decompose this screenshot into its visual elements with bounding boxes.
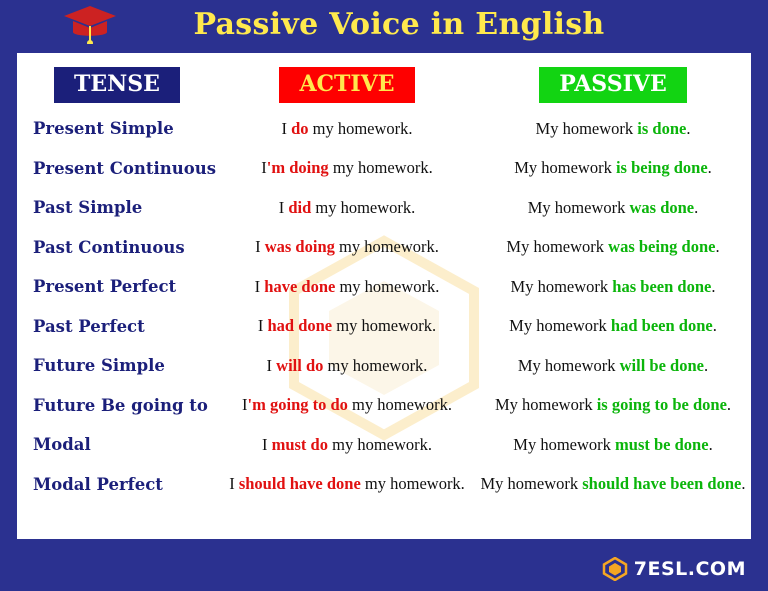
table-row: Past ContinuousI was doing my homework.M… <box>17 228 751 268</box>
passive-segment: . <box>727 395 731 414</box>
passive-segment: is done <box>637 119 686 138</box>
table-row: Future Be going toI'm going to do my hom… <box>17 386 751 426</box>
cell-passive: My homework is being done. <box>477 158 749 178</box>
passive-segment: My homework <box>518 356 620 375</box>
passive-segment: My homework <box>536 119 638 138</box>
passive-segment: . <box>704 356 708 375</box>
page-header: Passive Voice in English <box>0 0 768 48</box>
cell-active: I must do my homework. <box>217 435 477 455</box>
cell-passive: My homework is done. <box>477 119 749 139</box>
table-row: Past SimpleI did my homework.My homework… <box>17 188 751 228</box>
active-segment: my homework. <box>323 356 427 375</box>
site-logo[interactable]: 7ESL.COM <box>602 557 746 581</box>
active-segment: must do <box>272 435 328 454</box>
active-segment: was doing <box>265 237 335 256</box>
active-segment: my homework. <box>332 316 436 335</box>
cell-tense: Modal Perfect <box>17 475 217 494</box>
passive-segment: My homework <box>506 237 608 256</box>
cell-active: I do my homework. <box>217 119 477 139</box>
active-segment: should have done <box>239 474 361 493</box>
cell-active: I will do my homework. <box>217 356 477 376</box>
active-segment: do <box>291 119 308 138</box>
cell-tense: Future Simple <box>17 356 217 375</box>
badge-tense: TENSE <box>54 67 180 103</box>
table-row: Present SimpleI do my homework.My homewo… <box>17 109 751 149</box>
passive-segment: was being done <box>608 237 715 256</box>
cell-tense: Past Simple <box>17 198 217 217</box>
table-row: Present ContinuousI'm doing my homework.… <box>17 149 751 189</box>
passive-segment: My homework <box>509 316 611 335</box>
cell-active: I'm going to do my homework. <box>217 395 477 415</box>
active-segment: I <box>279 198 289 217</box>
passive-segment: . <box>711 277 715 296</box>
site-logo-text: 7ESL.COM <box>634 558 746 580</box>
badge-passive: PASSIVE <box>539 67 686 103</box>
cell-tense: Future Be going to <box>17 396 217 415</box>
passive-segment: . <box>686 119 690 138</box>
cell-passive: My homework had been done. <box>477 316 749 336</box>
active-segment: I <box>255 277 265 296</box>
table-row: ModalI must do my homework.My homework m… <box>17 425 751 465</box>
active-segment: 'm going to do <box>248 395 348 414</box>
table-row: Modal PerfectI should have done my homew… <box>17 465 751 505</box>
passive-segment: had been done <box>611 316 713 335</box>
passive-segment: . <box>708 158 712 177</box>
cell-passive: My homework must be done. <box>477 435 749 455</box>
active-segment: I <box>255 237 265 256</box>
cell-passive: My homework is going to be done. <box>477 395 749 415</box>
passive-segment: is going to be done <box>597 395 727 414</box>
active-segment: my homework. <box>309 119 413 138</box>
active-segment: my homework. <box>328 435 432 454</box>
active-segment: my homework. <box>311 198 415 217</box>
active-segment: my homework. <box>335 237 439 256</box>
page-footer: 7ESL.COM <box>0 546 768 591</box>
cell-active: I have done my homework. <box>217 277 477 297</box>
passive-segment: . <box>715 237 719 256</box>
cell-active: I should have done my homework. <box>217 474 477 494</box>
active-segment: I <box>262 435 272 454</box>
cell-tense: Modal <box>17 435 217 454</box>
graduation-cap-icon <box>60 2 120 44</box>
cell-passive: My homework will be done. <box>477 356 749 376</box>
passive-segment: is being done <box>616 158 708 177</box>
passive-segment: should have been done <box>582 474 741 493</box>
passive-segment: has been done <box>612 277 711 296</box>
table-row: Future SimpleI will do my homework.My ho… <box>17 346 751 386</box>
active-segment: have done <box>264 277 335 296</box>
badge-active: ACTIVE <box>279 67 414 103</box>
passive-segment: . <box>741 474 745 493</box>
cell-tense: Present Continuous <box>17 159 217 178</box>
active-segment: I <box>229 474 239 493</box>
passive-segment: . <box>694 198 698 217</box>
cell-active: I did my homework. <box>217 198 477 218</box>
active-segment: my homework. <box>335 277 439 296</box>
7esl-logo-icon <box>602 557 628 581</box>
passive-segment: My homework <box>481 474 583 493</box>
cell-active: I had done my homework. <box>217 316 477 336</box>
passive-segment: will be done <box>620 356 704 375</box>
cell-passive: My homework has been done. <box>477 277 749 297</box>
cell-tense: Past Continuous <box>17 238 217 257</box>
active-segment: I <box>267 356 277 375</box>
passive-segment: must be done <box>615 435 709 454</box>
active-segment: had done <box>267 316 332 335</box>
active-segment: I <box>281 119 291 138</box>
header-cell-tense: TENSE <box>17 67 217 103</box>
passive-segment: My homework <box>528 198 630 217</box>
passive-segment: . <box>713 316 717 335</box>
cell-tense: Present Perfect <box>17 277 217 296</box>
passive-segment: was done <box>629 198 694 217</box>
cell-tense: Past Perfect <box>17 317 217 336</box>
active-segment: my homework. <box>329 158 433 177</box>
active-segment: my homework. <box>348 395 452 414</box>
header-cell-active: ACTIVE <box>217 67 477 103</box>
cell-passive: My homework was being done. <box>477 237 749 257</box>
cell-active: I'm doing my homework. <box>217 158 477 178</box>
passive-segment: My homework <box>495 395 597 414</box>
table-row: Past PerfectI had done my homework.My ho… <box>17 307 751 347</box>
cell-passive: My homework should have been done. <box>477 474 749 494</box>
table-row: Present PerfectI have done my homework.M… <box>17 267 751 307</box>
cell-passive: My homework was done. <box>477 198 749 218</box>
cell-active: I was doing my homework. <box>217 237 477 257</box>
passive-segment: . <box>709 435 713 454</box>
table-card: TENSE ACTIVE PASSIVE Present SimpleI do … <box>14 50 754 542</box>
passive-segment: My homework <box>513 435 615 454</box>
header-cell-passive: PASSIVE <box>477 67 749 103</box>
table-body: Present SimpleI do my homework.My homewo… <box>17 109 751 504</box>
passive-segment: My homework <box>511 277 613 296</box>
column-headers: TENSE ACTIVE PASSIVE <box>17 53 751 109</box>
active-segment: my homework. <box>361 474 465 493</box>
active-segment: will do <box>276 356 323 375</box>
cell-tense: Present Simple <box>17 119 217 138</box>
passive-segment: My homework <box>514 158 616 177</box>
active-segment: did <box>288 198 311 217</box>
active-segment: 'm doing <box>267 158 329 177</box>
